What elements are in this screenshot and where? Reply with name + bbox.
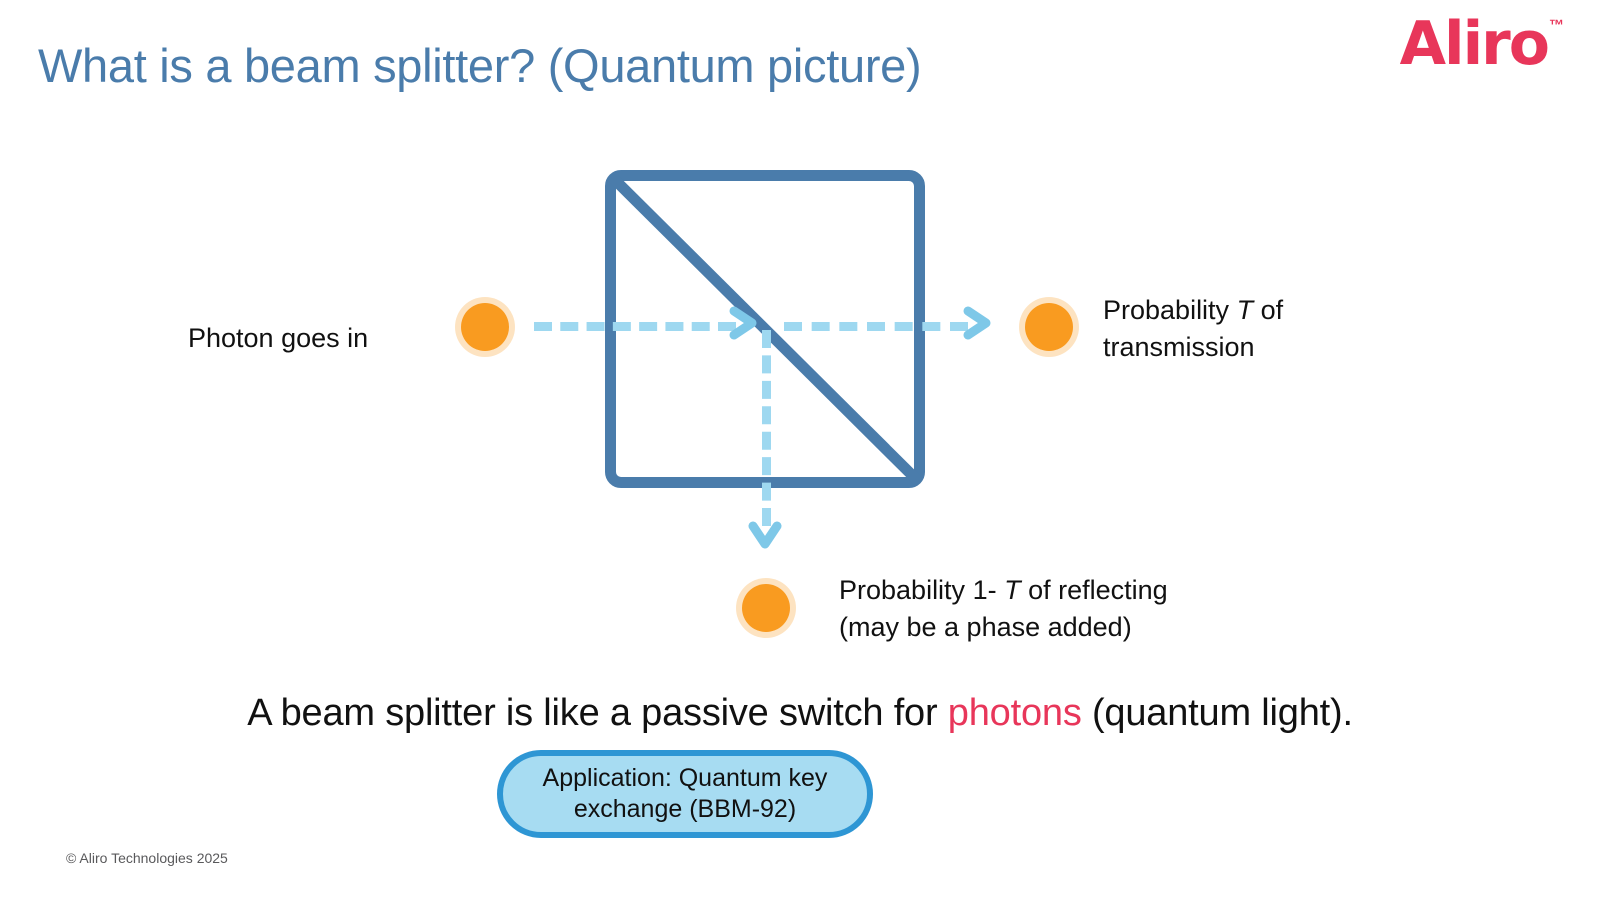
arrow-down-icon <box>745 520 785 564</box>
application-badge[interactable]: Application: Quantum key exchange (BBM-9… <box>497 750 873 838</box>
summary-statement: A beam splitter is like a passive switch… <box>0 692 1600 735</box>
summary-part-two: (quantum light). <box>1082 692 1353 734</box>
beam-input-dashed <box>534 322 736 331</box>
transmission-label: Probability T of transmission <box>1103 292 1283 367</box>
reflection-label: Probability 1- T of reflecting (may be a… <box>839 572 1168 647</box>
photon-reflected-dot <box>742 584 790 632</box>
summary-highlight-photons: photons <box>948 692 1082 734</box>
beam-reflected-dashed <box>762 330 771 526</box>
reflection-variable-T: T <box>1004 575 1021 605</box>
photon-transmitted-dot <box>1025 303 1073 351</box>
aliro-wordmark: Aliro <box>1400 14 1548 74</box>
transmission-variable-T: T <box>1237 295 1254 325</box>
summary-part-one: A beam splitter is like a passive switch… <box>247 692 948 734</box>
transmission-label-pre: Probability <box>1103 295 1237 325</box>
input-label: Photon goes in <box>188 320 368 357</box>
slide-canvas: What is a beam splitter? (Quantum pictur… <box>0 0 1600 900</box>
reflection-label-pre: Probability 1- <box>839 575 1004 605</box>
arrow-right-out-icon <box>962 303 1006 343</box>
aliro-logo: Aliro ™ <box>1400 14 1564 74</box>
beam-transmitted-dashed <box>784 322 968 331</box>
copyright-footer: © Aliro Technologies 2025 <box>66 850 228 866</box>
trademark-icon: ™ <box>1549 18 1564 33</box>
page-title: What is a beam splitter? (Quantum pictur… <box>38 38 921 93</box>
photon-input-dot <box>461 303 509 351</box>
